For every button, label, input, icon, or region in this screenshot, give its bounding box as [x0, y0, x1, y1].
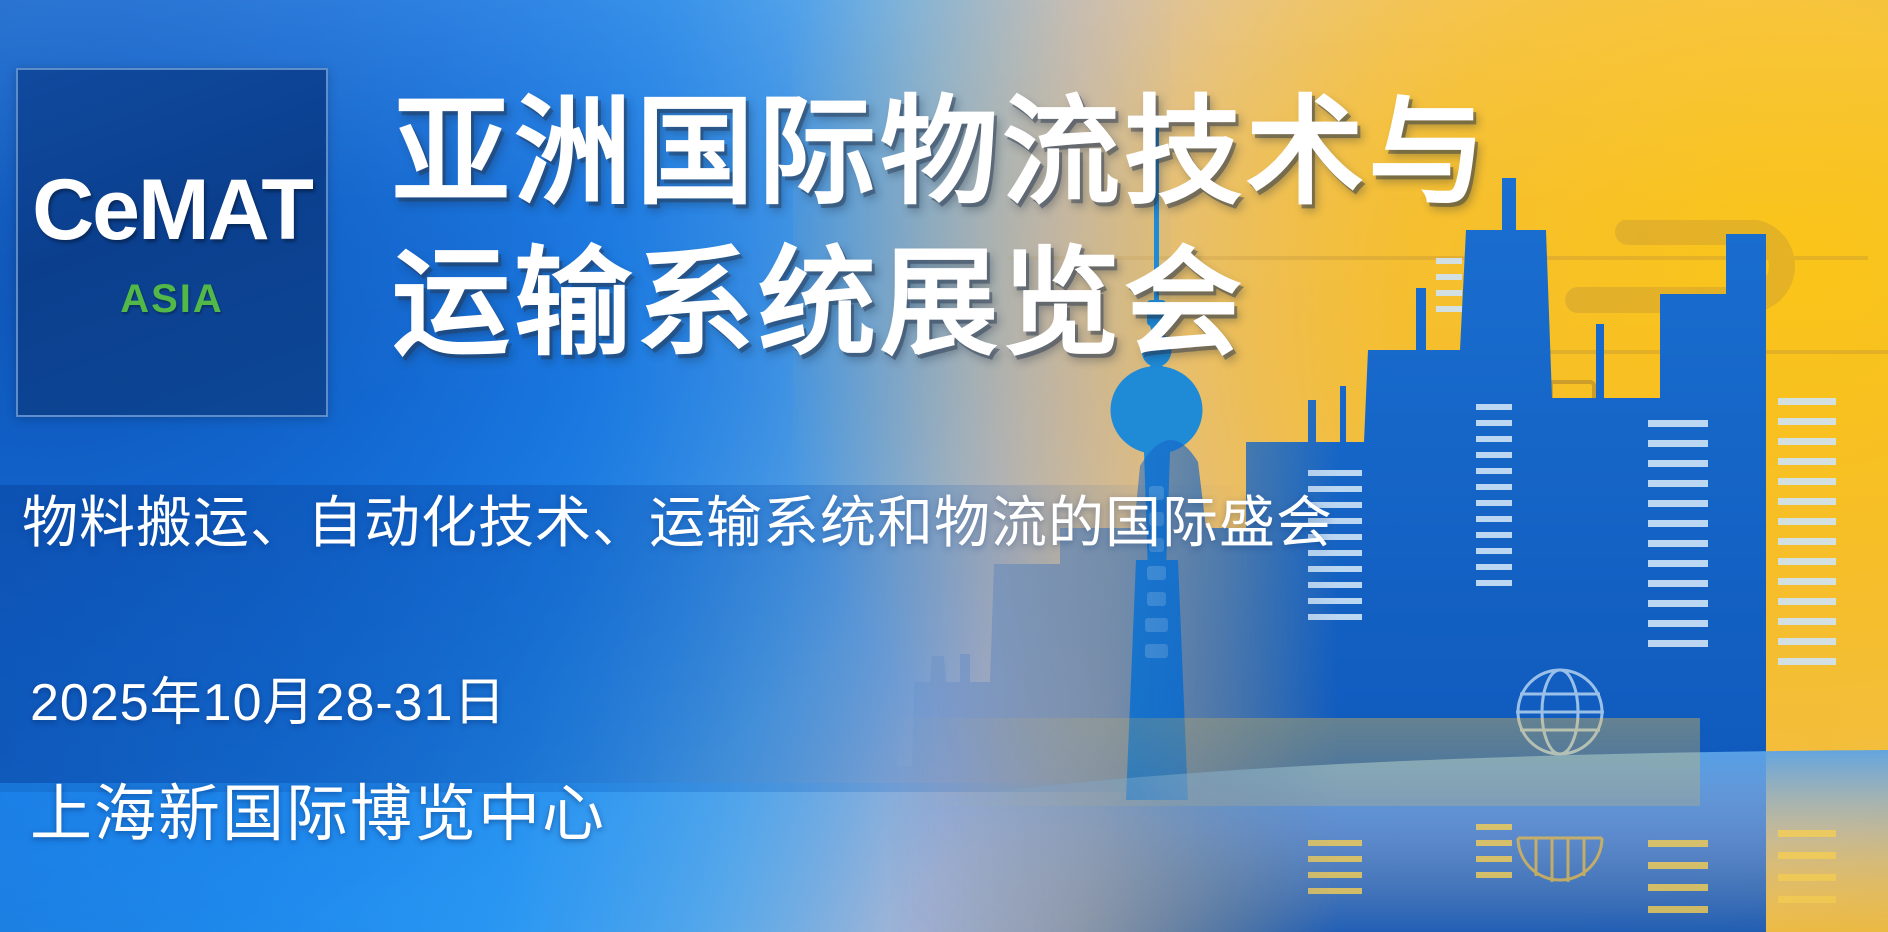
logo-region-label: ASIA: [120, 279, 224, 319]
headline-line-2: 运输系统展览会: [392, 229, 1572, 380]
event-date: 2025年10月28-31日: [30, 660, 606, 735]
headline-line-1: 亚洲国际物流技术与: [392, 78, 1572, 229]
logo-wordmark: CeMAT: [32, 167, 312, 253]
cemat-asia-logo: CeMAT ASIA: [16, 68, 328, 417]
subtitle: 物料搬运、自动化技术、运输系统和物流的国际盛会: [22, 478, 1333, 559]
page-title: 亚洲国际物流技术与 运输系统展览会: [392, 78, 1572, 380]
cemat-asia-event-banner: CeMAT ASIA 亚洲国际物流技术与 运输系统展览会 物料搬运、自动化技术、…: [0, 0, 1888, 932]
event-venue: 上海新国际博览中心: [30, 763, 606, 853]
event-details: 2025年10月28-31日 上海新国际博览中心: [30, 660, 606, 853]
